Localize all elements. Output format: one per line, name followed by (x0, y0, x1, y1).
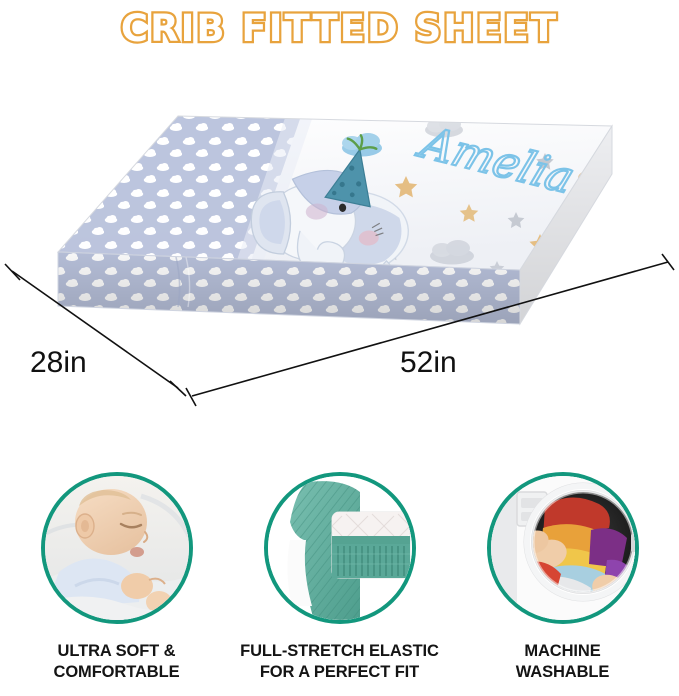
washing-machine-icon (487, 472, 639, 624)
sleeping-baby-icon (41, 472, 193, 624)
feature-caption: ULTRA SOFT & COMFORTABLE (54, 641, 180, 683)
elastic-corner-icon (264, 472, 416, 624)
feature-full-stretch-elastic: FULL-STRETCH ELASTIC FOR A PERFECT FIT (229, 472, 450, 683)
page-title: CRIB FITTED SHEET (121, 10, 558, 47)
product-hero-image: Amelia 28in (0, 56, 679, 456)
feature-list: ULTRA SOFT & COMFORTABLE (0, 472, 679, 696)
title-bar: CRIB FITTED SHEET (0, 2, 679, 54)
feature-machine-washable: MACHINE WASHABLE (452, 472, 673, 683)
feature-ultra-soft: ULTRA SOFT & COMFORTABLE (6, 472, 227, 683)
dimension-width-label: 28in (30, 346, 87, 379)
dimension-length-label: 52in (400, 346, 457, 379)
feature-caption: MACHINE WASHABLE (516, 641, 610, 683)
feature-caption: FULL-STRETCH ELASTIC FOR A PERFECT FIT (240, 641, 439, 683)
